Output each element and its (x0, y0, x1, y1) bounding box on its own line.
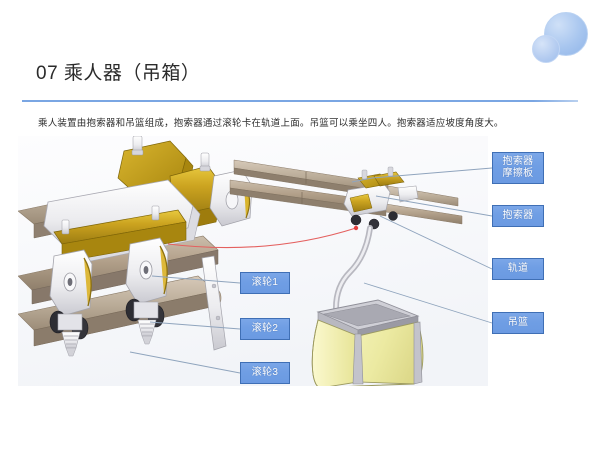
callout-gunlun-2-label: 滚轮2 (250, 323, 280, 335)
illustration-stage (18, 136, 488, 386)
page-title: 07 乘人器（吊箱） (36, 58, 200, 85)
slide-canvas: 07 乘人器（吊箱） 乘人装置由抱索器和吊篮组成，抱索器通过滚轮卡在轨道上面。吊… (0, 0, 600, 450)
small-blue-circle-icon (532, 35, 560, 63)
callout-baosuoqi[interactable]: 抱索器 (492, 205, 544, 227)
callout-guidao[interactable]: 轨道 (492, 258, 544, 280)
callout-guidao-label: 轨道 (506, 263, 531, 275)
callout-gunlun-3-label: 滚轮3 (250, 367, 280, 379)
callout-baosuoqi-mocaban-label-line1: 抱索器 (501, 156, 536, 168)
cabin (312, 300, 423, 386)
title-divider (22, 100, 578, 102)
callout-baosuoqi-mocaban[interactable]: 抱索器 摩擦板 (492, 152, 544, 184)
slide-subtitle: 乘人装置由抱索器和吊篮组成，抱索器通过滚轮卡在轨道上面。吊篮可以乘坐四人。抱索器… (38, 115, 504, 129)
callout-baosuoqi-mocaban-label-line2: 摩擦板 (501, 168, 536, 180)
callout-gunlun-1[interactable]: 滚轮1 (240, 272, 290, 294)
callout-diaolan[interactable]: 吊篮 (492, 312, 544, 334)
callout-baosuoqi-label: 抱索器 (501, 210, 536, 222)
cable-car-cad-illustration (18, 136, 488, 386)
callout-gunlun-2[interactable]: 滚轮2 (240, 318, 290, 340)
callout-gunlun-1-label: 滚轮1 (250, 277, 280, 289)
callout-diaolan-label: 吊篮 (506, 317, 531, 329)
callout-gunlun-3[interactable]: 滚轮3 (240, 362, 290, 384)
decorative-circles (510, 0, 600, 80)
